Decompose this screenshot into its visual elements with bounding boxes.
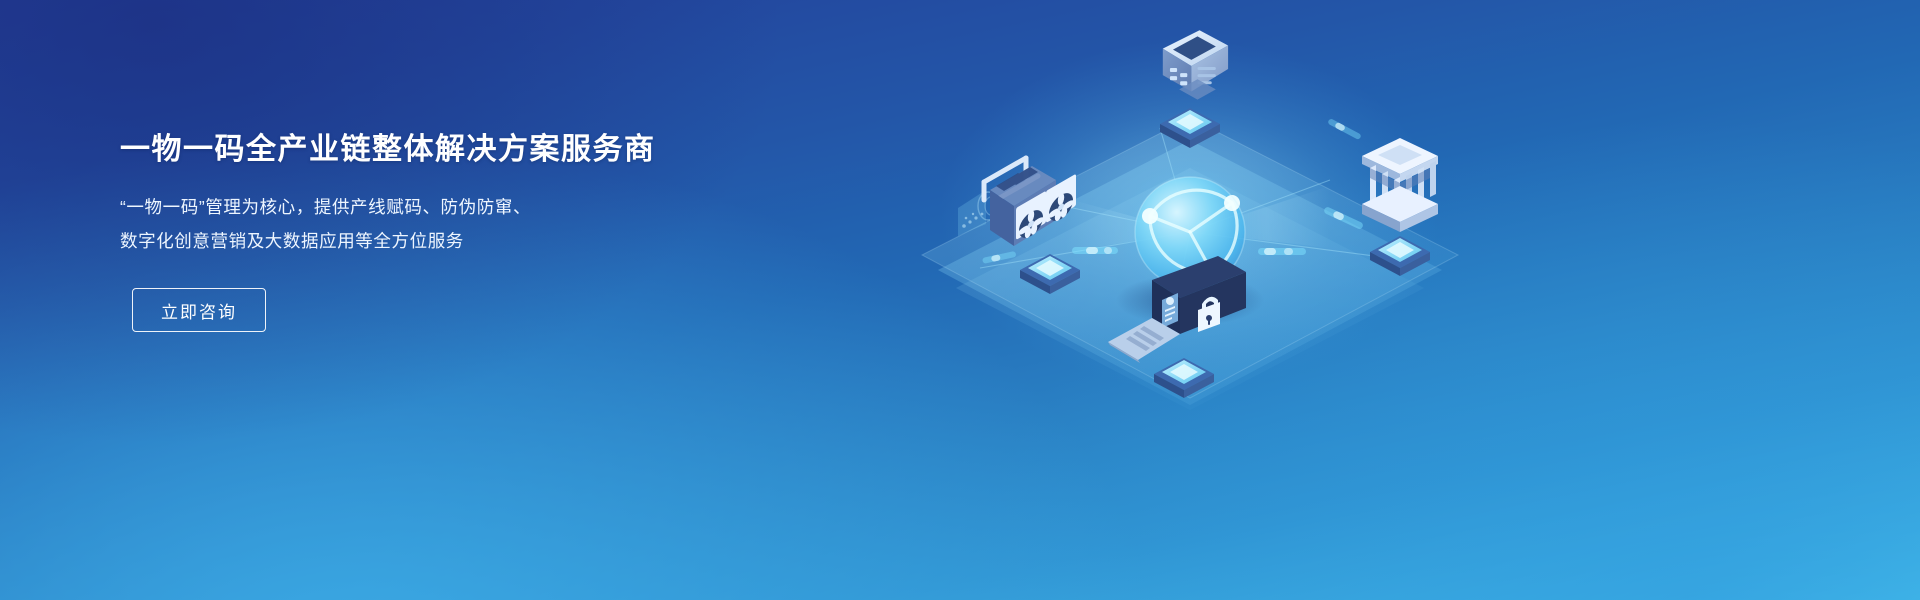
hero-subtitle: “一物一码”管理为核心，提供产线赋码、防伪防窜、 数字化创意营销及大数据应用等全…	[120, 190, 656, 258]
hero-illustration	[860, 0, 1540, 600]
subtitle-line-2: 数字化创意营销及大数据应用等全方位服务	[120, 224, 656, 258]
subtitle-line-1: “一物一码”管理为核心，提供产线赋码、防伪防窜、	[120, 190, 656, 224]
hero-copy: 一物一码全产业链整体解决方案服务商 “一物一码”管理为核心，提供产线赋码、防伪防…	[120, 132, 656, 332]
hero-banner: 一物一码全产业链整体解决方案服务商 “一物一码”管理为核心，提供产线赋码、防伪防…	[0, 0, 1920, 600]
page-title: 一物一码全产业链整体解决方案服务商	[120, 132, 656, 168]
consult-now-button[interactable]: 立即咨询	[132, 288, 266, 332]
